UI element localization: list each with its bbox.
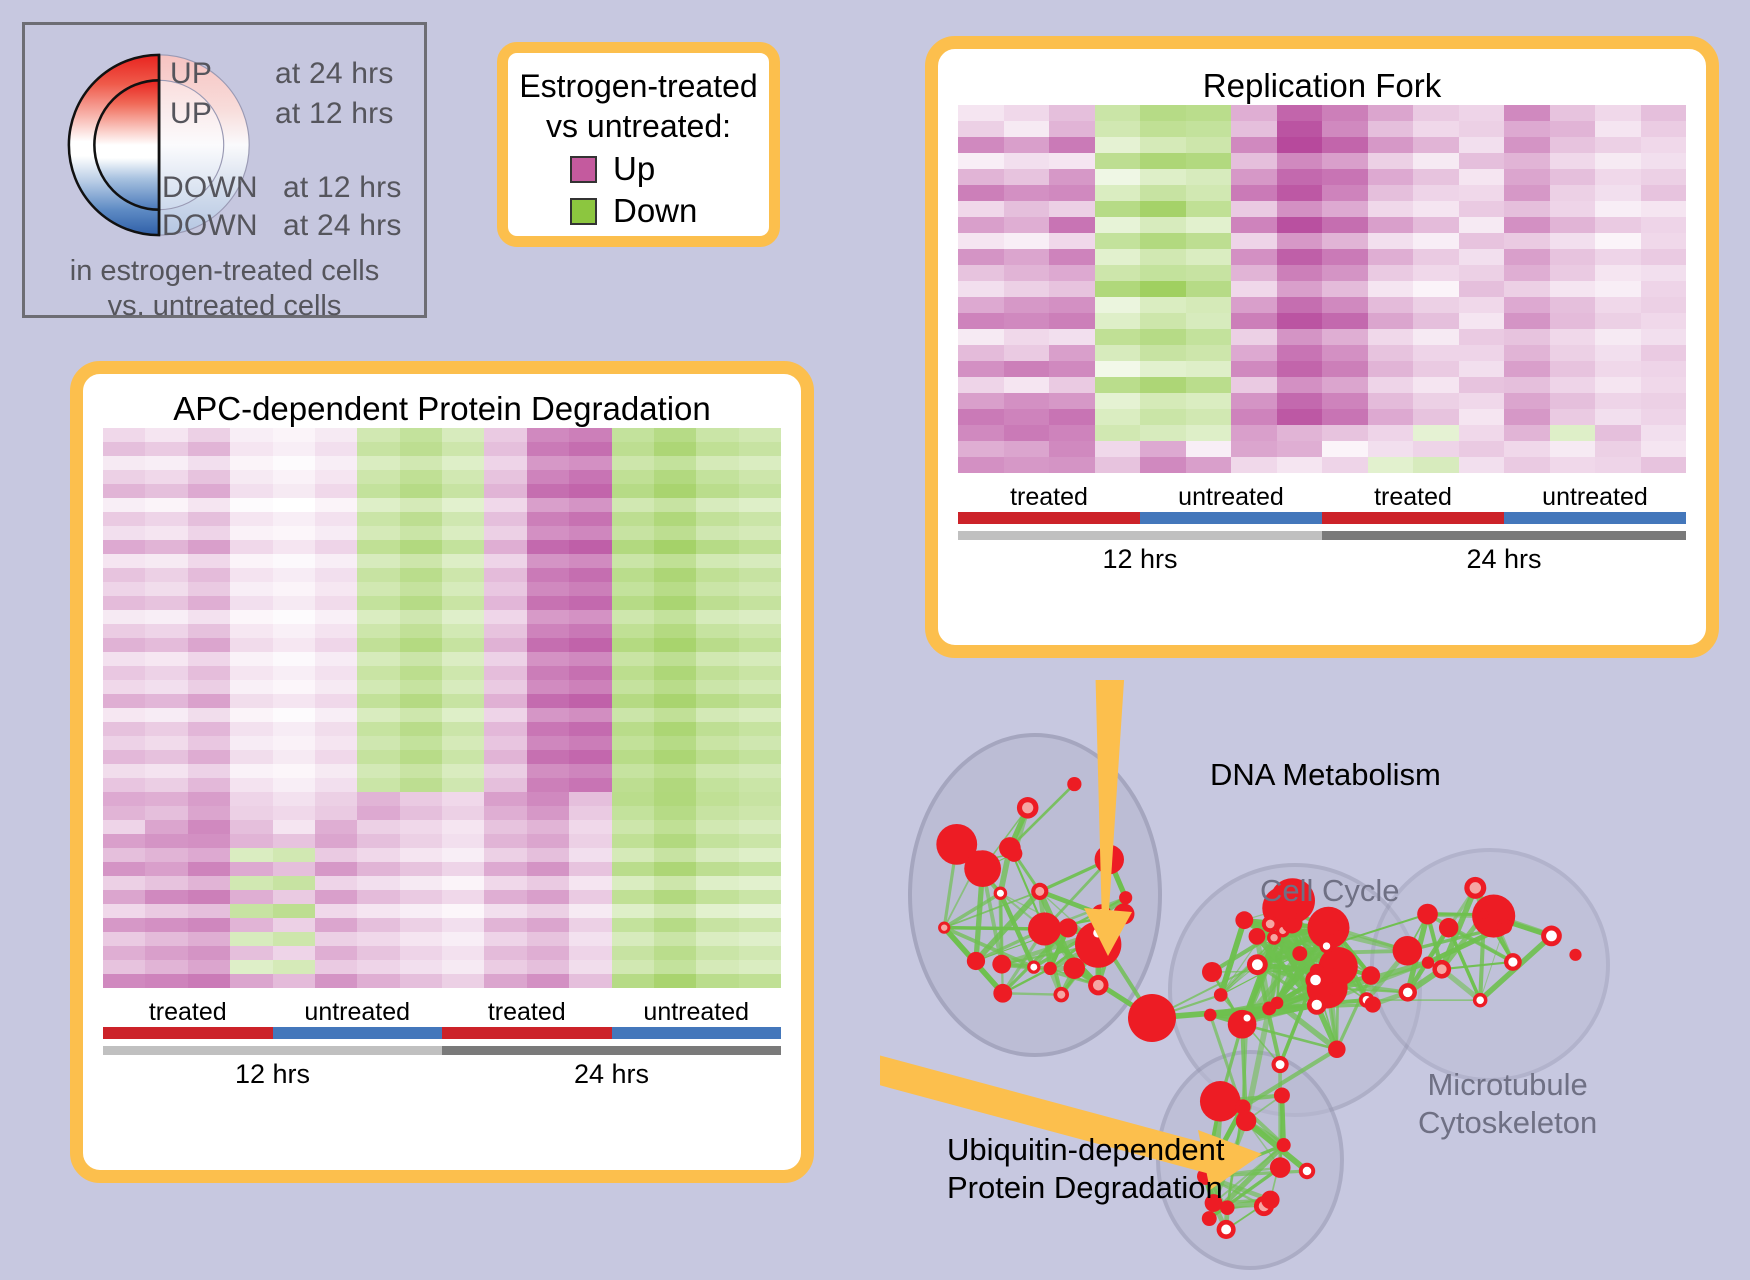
heatmap-cell [1550,217,1596,233]
heatmap-cell [1186,265,1232,281]
heatmap-cell [1322,281,1368,297]
heatmap-cell [739,736,781,750]
heatmap-cell [654,890,696,904]
heatmap-cell [1231,185,1277,201]
heatmap-cell [1049,153,1095,169]
heatmap-cell [569,946,611,960]
heatmap-cell [739,890,781,904]
heatmap-cell [188,666,230,680]
heatmap-cell [230,470,272,484]
heatmap-cell [188,904,230,918]
heatmap-cell [103,904,145,918]
heatmap-cell [1186,425,1232,441]
heatmap-cell [273,540,315,554]
heatmap-cell [1140,393,1186,409]
heatmap-cell [1277,137,1323,153]
heatmap-cell [1504,169,1550,185]
heatmap-cell [1095,393,1141,409]
heatmap-cell [1231,377,1277,393]
heatmap-cell [273,694,315,708]
heatmap-cell [484,596,526,610]
colorwheel-legend-box: UP at 24 hrs UP at 12 hrs DOWN at 12 hrs… [22,22,427,318]
heatmap-cell [273,890,315,904]
heatmap-cell [188,708,230,722]
network-node [994,886,1008,900]
heatmap-cell [739,722,781,736]
heatmap-cell [357,848,399,862]
heatmap-cell [696,960,738,974]
heatmap-cell [1595,185,1641,201]
heatmap-cell [612,918,654,932]
network-node [1044,962,1057,975]
heatmap-cell [1004,169,1050,185]
heatmap-cell [1413,377,1459,393]
heatmap-cell [103,582,145,596]
heatmap-cell [188,470,230,484]
updown-legend-card: Estrogen-treated vs untreated: Up Down [497,42,780,247]
heatmap-cell [273,792,315,806]
heatmap-cell [188,848,230,862]
heatmap-cell [569,904,611,918]
heatmap-cell [1368,169,1414,185]
heatmap-cell [1368,361,1414,377]
heatmap-cell [527,484,569,498]
heatmap-cell [188,638,230,652]
heatmap-cell [1186,329,1232,345]
heatmap-cell [696,708,738,722]
heatmap-cell [739,974,781,988]
heatmap-cell [484,694,526,708]
heatmap-cell [1322,361,1368,377]
heatmap-cell [569,610,611,624]
heatmap-cell [230,834,272,848]
heatmap-cell [1322,121,1368,137]
heatmap-cell [1049,361,1095,377]
heatmap-cell [1231,281,1277,297]
heatmap-cell [357,890,399,904]
heatmap-cell [1459,105,1505,121]
heatmap-cell [315,834,357,848]
condition-bar-segment [273,1027,443,1039]
heatmap-cell [400,946,442,960]
heatmap-cell [1413,121,1459,137]
heatmap-cell [484,484,526,498]
heatmap-cell [1550,137,1596,153]
heatmap-apc [103,428,781,988]
heatmap-cell [612,694,654,708]
network-node [1204,1009,1217,1022]
heatmap-cell [696,890,738,904]
heatmap-cell [357,652,399,666]
heatmap-cell [1641,361,1687,377]
heatmap-cell [958,281,1004,297]
heatmap-cell [569,554,611,568]
heatmap-cell [696,834,738,848]
heatmap-cell [739,778,781,792]
heatmap-cell [484,554,526,568]
heatmap-cell [230,764,272,778]
heatmap-cell [527,722,569,736]
heatmap-cell [1140,329,1186,345]
heatmap-cell [1368,217,1414,233]
heatmap-cell [442,638,484,652]
heatmap-cell [1095,185,1141,201]
heatmap-cell [654,932,696,946]
heatmap-cell [315,526,357,540]
heatmap-cell [569,764,611,778]
heatmap-cell [1049,249,1095,265]
condition-colorbar-replication-fork [958,512,1686,524]
heatmap-cell [1049,329,1095,345]
heatmap-cell [612,960,654,974]
heatmap-cell [442,890,484,904]
network-node [1307,995,1327,1015]
heatmap-cell [1368,377,1414,393]
heatmap-cell [739,834,781,848]
heatmap-cell [569,876,611,890]
heatmap-cell [442,918,484,932]
heatmap-cell [1186,281,1232,297]
heatmap-cell [1049,393,1095,409]
heatmap-cell [654,610,696,624]
heatmap-cell [145,666,187,680]
heatmap-cell [273,652,315,666]
heatmap-cell [527,932,569,946]
heatmap-cell [696,498,738,512]
network-node [1202,962,1222,982]
heatmap-cell [188,862,230,876]
heatmap-cell [442,498,484,512]
heatmap-cell [1231,201,1277,217]
heatmap-cell [1095,265,1141,281]
heatmap-cell [145,708,187,722]
wheel-state-0: UP [170,57,212,91]
heatmap-cell [357,792,399,806]
heatmap-cell [696,694,738,708]
heatmap-cell [103,624,145,638]
heatmap-cell [1550,361,1596,377]
heatmap-cell [400,624,442,638]
heatmap-cell [400,484,442,498]
heatmap-cell [1140,425,1186,441]
heatmap-cell [1322,201,1368,217]
heatmap-cell [1049,233,1095,249]
heatmap-cell [230,498,272,512]
heatmap-cell [315,666,357,680]
heatmap-cell [103,960,145,974]
heatmap-cell [273,834,315,848]
heatmap-cell [103,932,145,946]
heatmap-cell [1004,393,1050,409]
heatmap-cell [273,596,315,610]
heatmap-cell [442,764,484,778]
heatmap-cell [1641,313,1687,329]
heatmap-cell [145,904,187,918]
network-node [1249,928,1266,945]
heatmap-cell [315,638,357,652]
heatmap-cell [527,764,569,778]
heatmap-cell [145,750,187,764]
heatmap-cell [484,820,526,834]
heatmap-cell [1322,393,1368,409]
heatmap-cell [400,792,442,806]
heatmap-cell [1140,201,1186,217]
heatmap-cell [145,862,187,876]
heatmap-cell [1049,121,1095,137]
heatmap-cell [484,932,526,946]
heatmap-cell [1459,217,1505,233]
heatmap-cell [1049,313,1095,329]
wheel-time-2: at 12 hrs [283,171,402,205]
heatmap-cell [527,526,569,540]
heatmap-cell [612,554,654,568]
heatmap-cell [739,456,781,470]
heatmap-cell [1504,345,1550,361]
heatmap-cell [1504,329,1550,345]
heatmap-cell [654,680,696,694]
heatmap-cell [315,484,357,498]
heatmap-cell [1595,361,1641,377]
network-node [1417,904,1438,925]
heatmap-cell [1641,409,1687,425]
heatmap-cell [230,596,272,610]
heatmap-cell [569,778,611,792]
heatmap-cell [958,441,1004,457]
heatmap-cell [357,540,399,554]
heatmap-cell [1004,201,1050,217]
heatmap-cell [103,890,145,904]
wheel-state-3: DOWN [162,209,258,243]
heatmap-cell [569,862,611,876]
heatmap-cell [1322,425,1368,441]
heatmap-cell [188,582,230,596]
heatmap-cell [1277,377,1323,393]
network-node [1262,1002,1276,1016]
heatmap-cell [145,722,187,736]
heatmap-cell [1231,393,1277,409]
heatmap-cell [357,876,399,890]
heatmap-cell [230,694,272,708]
heatmap-cell [739,540,781,554]
heatmap-cell [654,582,696,596]
heatmap-cell [1140,297,1186,313]
heatmap-cell [1140,153,1186,169]
network-node [1439,918,1458,937]
heatmap-cell [527,890,569,904]
heatmap-cell [357,918,399,932]
heatmap-cell [696,918,738,932]
heatmap-cell [654,862,696,876]
heatmap-cell [1504,457,1550,473]
heatmap-cell [315,596,357,610]
heatmap-cell [958,345,1004,361]
heatmap-cell [654,750,696,764]
heatmap-cell [442,736,484,750]
heatmap-cell [1641,249,1687,265]
network-node [1504,953,1522,971]
heatmap-cell [188,694,230,708]
heatmap-cell [1459,457,1505,473]
heatmap-cell [569,848,611,862]
heatmap-cell [569,582,611,596]
network-node [1319,939,1333,953]
wheel-caption-line1: in estrogen-treated cells [25,253,424,289]
heatmap-cell [527,568,569,582]
heatmap-cell [569,624,611,638]
heatmap-cell [1049,345,1095,361]
heatmap-cell [188,834,230,848]
heatmap-cell [958,233,1004,249]
heatmap-cell [654,792,696,806]
heatmap-cell [696,484,738,498]
heatmap-cell [145,526,187,540]
heatmap-cell [958,329,1004,345]
heatmap-cell [484,876,526,890]
heatmap-cell [103,750,145,764]
heatmap-cell [273,470,315,484]
condition-label: treated [103,998,273,1027]
heatmap-cell [400,428,442,442]
network-node [993,984,1012,1003]
heatmap-cell [739,750,781,764]
heatmap-cell [1277,265,1323,281]
heatmap-cell [1140,185,1186,201]
heatmap-cell [1322,457,1368,473]
heatmap-cell [103,722,145,736]
heatmap-cell [1550,249,1596,265]
heatmap-cell [273,904,315,918]
heatmap-cell [230,456,272,470]
heatmap-cell [103,876,145,890]
heatmap-cell [1231,217,1277,233]
time-label: 12 hrs [958,544,1322,575]
heatmap-cell [442,666,484,680]
heatmap-cell [484,568,526,582]
network-node [1464,877,1486,899]
heatmap-cell [696,512,738,526]
heatmap-cell [400,848,442,862]
heatmap-cell [145,512,187,526]
heatmap-cell [357,638,399,652]
heatmap-cell [654,568,696,582]
heatmap-cell [1595,297,1641,313]
heatmap-cell [1140,377,1186,393]
heatmap-cell [654,806,696,820]
heatmap-cell [1277,345,1323,361]
heatmap-cell [958,265,1004,281]
heatmap-cell [357,960,399,974]
heatmap-cell [315,890,357,904]
heatmap-cell [442,862,484,876]
heatmap-cell [1504,409,1550,425]
heatmap-cell [1595,457,1641,473]
network-node [1214,988,1228,1002]
heatmap-cell [400,918,442,932]
heatmap-cell [527,596,569,610]
heatmap-cell [315,722,357,736]
heatmap-cell [1459,185,1505,201]
heatmap-cell [1004,265,1050,281]
heatmap-cell [1004,121,1050,137]
heatmap-cell [696,568,738,582]
heatmap-cell [357,736,399,750]
time-labels-apc: 12 hrs24 hrs [103,1059,781,1090]
heatmap-cell [1368,281,1414,297]
heatmap-cell [739,960,781,974]
heatmap-cell [1504,297,1550,313]
heatmap-cell [1322,137,1368,153]
heatmap-cell [612,484,654,498]
heatmap-cell [357,484,399,498]
heatmap-cell [442,680,484,694]
network-node [1235,1099,1250,1114]
heatmap-cell [1550,441,1596,457]
heatmap-cell [357,568,399,582]
heatmap-cell [1368,425,1414,441]
heatmap-cell [357,722,399,736]
time-bar-segment [1322,531,1686,540]
heatmap-cell [1277,249,1323,265]
heatmap-cell [1504,217,1550,233]
heatmap-cell [1231,313,1277,329]
heatmap-cell [1459,361,1505,377]
network-node [1017,797,1039,819]
heatmap-cell [612,680,654,694]
heatmap-cell [230,820,272,834]
heatmap-cell [696,722,738,736]
heatmap-cell [1641,185,1687,201]
heatmap-cell [103,484,145,498]
heatmap-cell [273,512,315,526]
heatmap-cell [612,792,654,806]
heatmap-cell [739,582,781,596]
heatmap-cell [1641,441,1687,457]
heatmap-cell [1140,265,1186,281]
heatmap-cell [103,834,145,848]
heatmap-cell [400,680,442,694]
heatmap-cell [1459,409,1505,425]
heatmap-cell [739,428,781,442]
heatmap-cell [739,568,781,582]
heatmap-cell [188,596,230,610]
heatmap-cell [739,918,781,932]
heatmap-cell [739,526,781,540]
heatmap-cell [188,428,230,442]
network-node [1088,975,1108,995]
network-node [1240,1011,1254,1025]
heatmap-cell [484,610,526,624]
heatmap-cell [442,554,484,568]
heatmap-cell [1595,201,1641,217]
heatmap-cell [442,470,484,484]
heatmap-cell [484,512,526,526]
heatmap-cell [1550,425,1596,441]
heatmap-cell [1368,457,1414,473]
legend-title-line2: vs untreated: [508,106,769,146]
heatmap-cell [145,694,187,708]
condition-labels-apc: treateduntreatedtreateduntreated [103,998,781,1027]
heatmap-cell [315,862,357,876]
heatmap-cell [1095,137,1141,153]
heatmap-cell [696,610,738,624]
time-bar-segment [958,531,1322,540]
heatmap-cell [1368,105,1414,121]
time-labels-replication-fork: 12 hrs24 hrs [958,544,1686,575]
heatmap-cell [1049,425,1095,441]
heatmap-cell [145,764,187,778]
heatmap-cell [400,736,442,750]
heatmap-cell [442,750,484,764]
